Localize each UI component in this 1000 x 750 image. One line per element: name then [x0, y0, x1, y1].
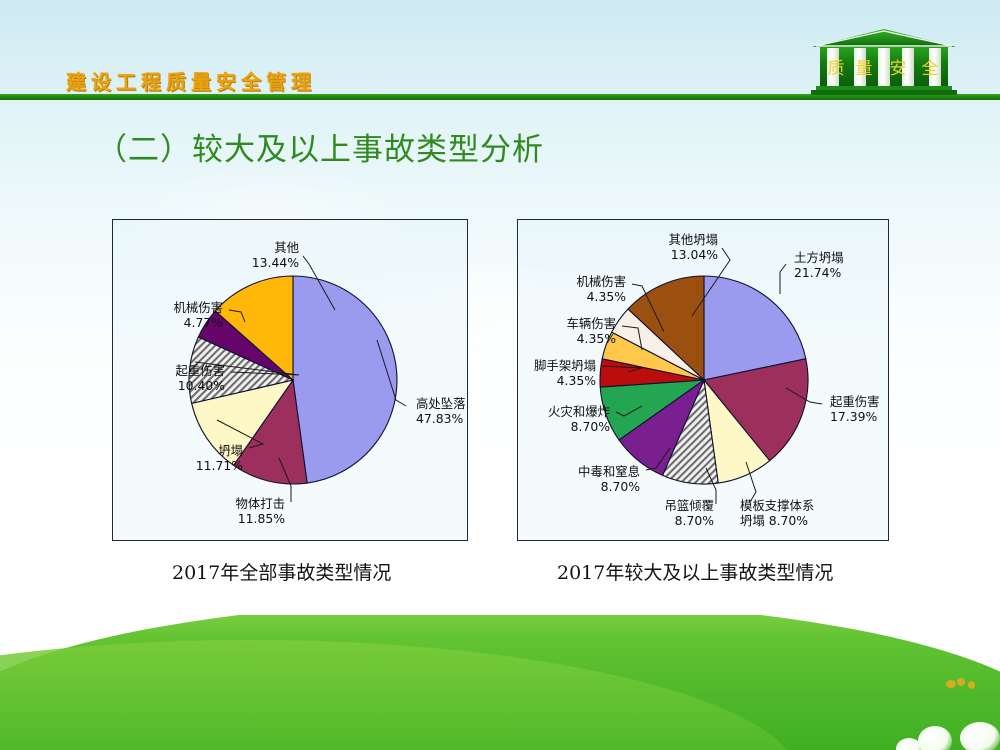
- pie-slice-label: 其他13.44%: [252, 240, 299, 270]
- label-leader-line: [780, 264, 786, 294]
- pie-chart-all-accident-types: 高处坠落47.83%物体打击11.85%坍塌11.71%起重伤害10.40%机械…: [112, 219, 468, 541]
- pie-chart-major-accident-types: 土方坍塌21.74%起重伤害17.39%模板支撑体系坍塌 8.70%吊篮倾覆8.…: [517, 219, 889, 541]
- flower-decoration: [918, 726, 952, 750]
- pie-slice-label: 机械伤害4.35%: [576, 274, 626, 304]
- pie-slice-label: 土方坍塌21.74%: [794, 250, 844, 280]
- pie-slice-label: 火灾和爆炸8.70%: [548, 404, 610, 434]
- pie-slice-label: 起重伤害10.40%: [175, 363, 225, 393]
- chart-caption-left: 2017年全部事故类型情况: [172, 558, 391, 585]
- slide-header: 建设工程质量安全管理: [0, 0, 1000, 100]
- pie-slice: [293, 276, 397, 483]
- pie-slice-label: 中毒和窒息8.70%: [578, 464, 640, 494]
- slide-canvas: 建设工程质量安全管理: [0, 0, 1000, 750]
- pie-slice-label: 机械伤害4.77%: [173, 300, 223, 330]
- pie-slice-label: 吊篮倾覆8.70%: [664, 498, 714, 528]
- logo-char: 量: [856, 59, 873, 79]
- pie-slice-label: 坍塌11.71%: [196, 443, 243, 473]
- logo-char: 安: [890, 59, 907, 79]
- pie-slice-label: 物体打击11.85%: [235, 496, 285, 526]
- flower-decoration: [960, 722, 1000, 750]
- pie-slice-label: 脚手架坍塌4.35%: [534, 358, 596, 388]
- quality-safety-temple-logo: 质 量 安 全: [806, 29, 962, 97]
- logo-char: 全: [922, 59, 939, 79]
- pie-slice-label: 模板支撑体系坍塌 8.70%: [740, 498, 814, 528]
- pie-slice-label: 其他坍塌13.04%: [668, 232, 718, 262]
- logo-char: 质: [828, 59, 845, 79]
- pie-slice-label: 起重伤害17.39%: [830, 394, 880, 424]
- header-title: 建设工程质量安全管理: [66, 66, 316, 95]
- pie-slice-label: 高处坠落47.83%: [416, 396, 466, 426]
- chart-caption-right: 2017年较大及以上事故类型情况: [557, 558, 833, 585]
- slide-title: （二）较大及以上事故类型分析: [96, 124, 544, 169]
- pie-slice-label: 车辆伤害4.35%: [566, 316, 616, 346]
- grass-hill-decoration: [0, 615, 1000, 750]
